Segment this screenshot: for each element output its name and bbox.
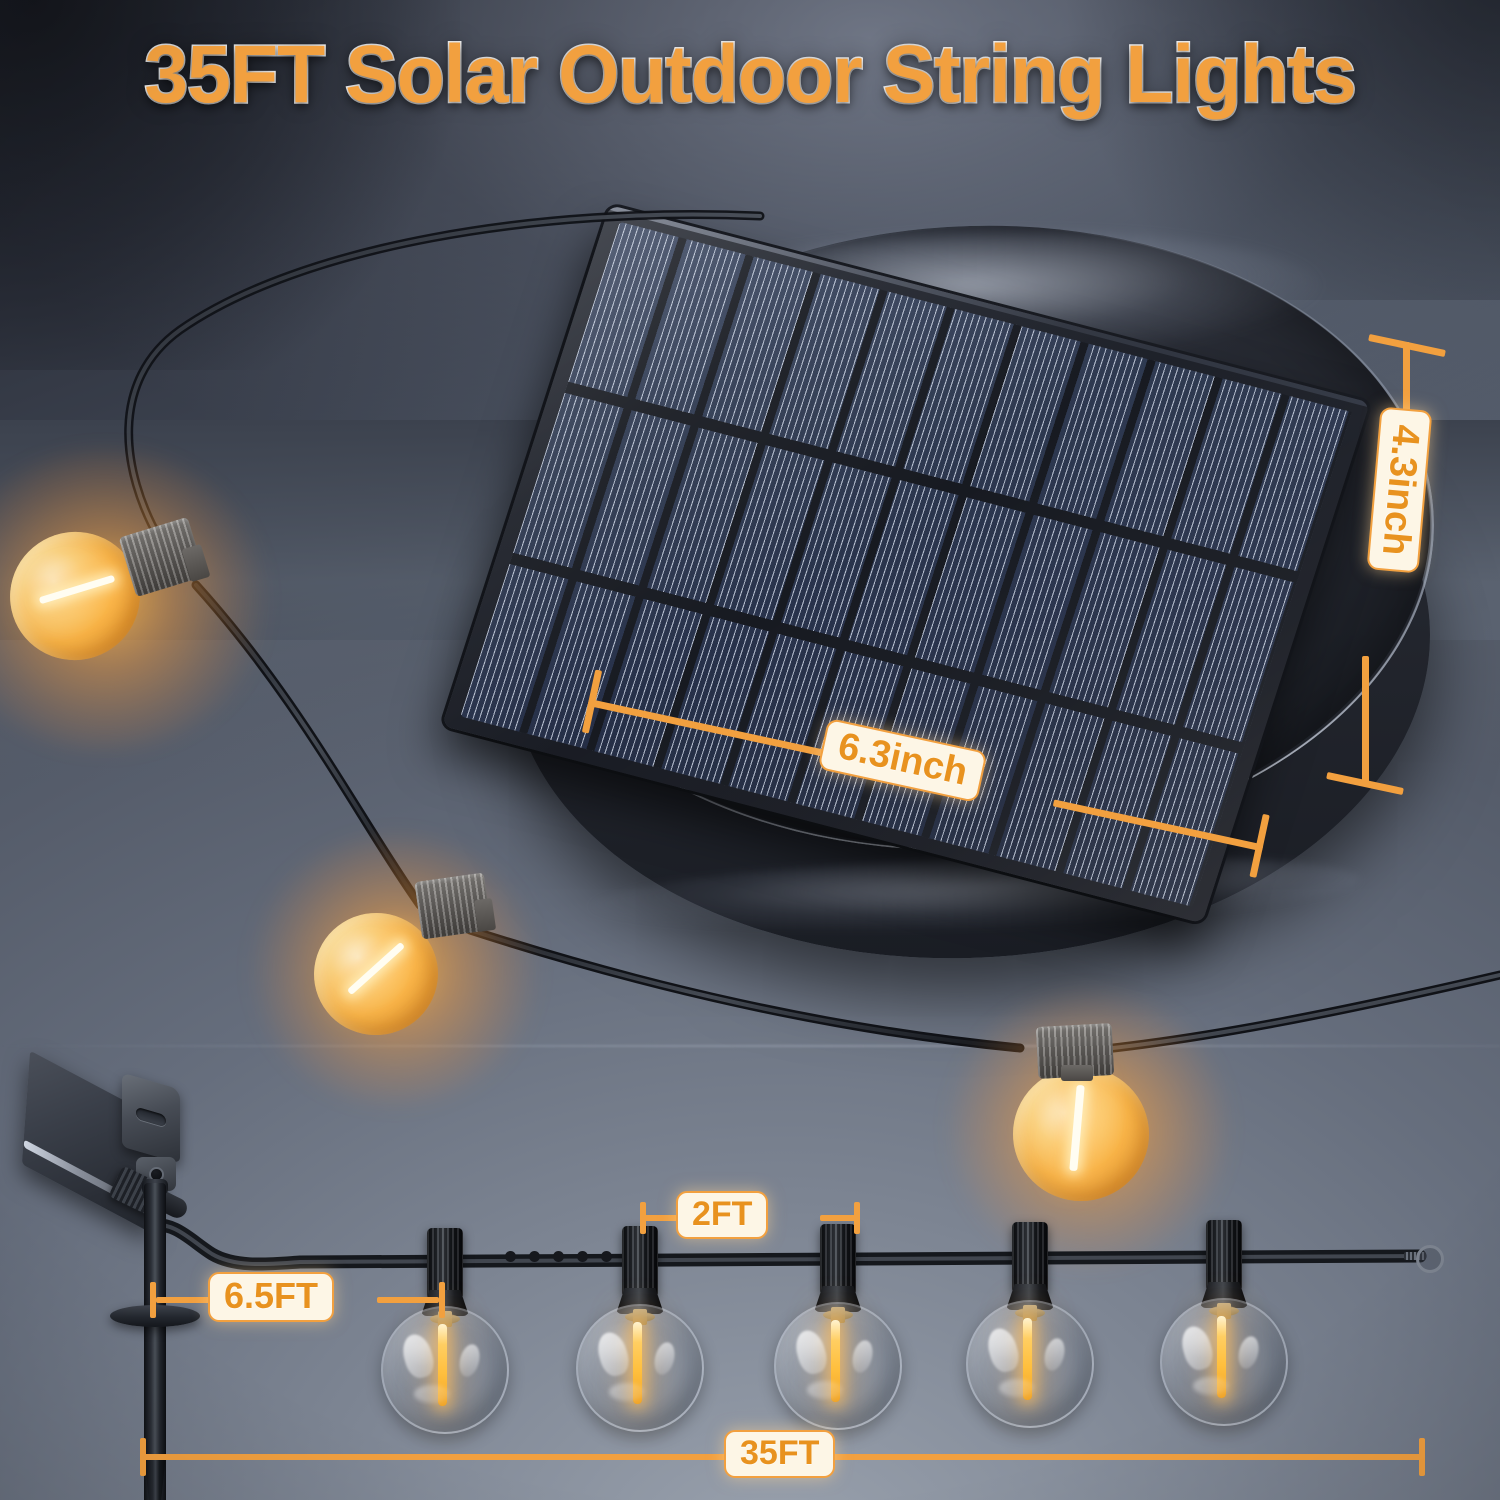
vignette-overlay — [0, 0, 1500, 1500]
product-image-canvas: 35FT Solar Outdoor String Lights — [0, 0, 1500, 1500]
